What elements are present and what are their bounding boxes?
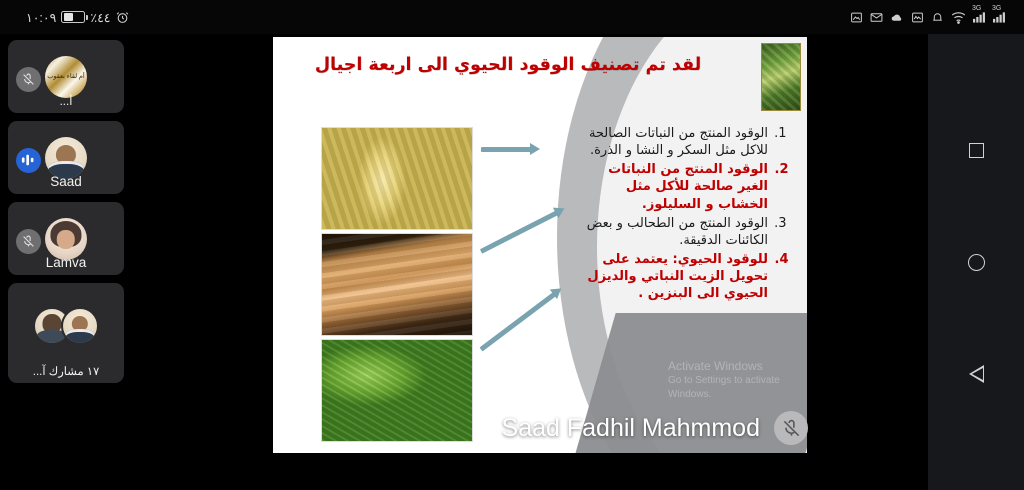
participants-count-tile[interactable]: ١٧ مشارك آ...: [8, 283, 124, 383]
avatar: [45, 218, 87, 260]
wifi-icon: [951, 11, 966, 24]
status-bar-right: 3G 3G: [850, 11, 1006, 24]
mic-off-icon[interactable]: [774, 411, 808, 445]
slide-bullet-list: الوقود المنتج من النباتات الصالحة للاكل …: [574, 125, 789, 305]
shared-screen-stage[interactable]: لقد تم تصنيف الوقود الحيوي الى اربعة اجي…: [170, 37, 830, 453]
battery-icon: [61, 11, 85, 23]
cloud-icon: [890, 11, 904, 24]
participant-tile-2[interactable]: Saad: [8, 121, 124, 194]
stats-icon: [911, 11, 924, 24]
presenter-bar: Saad Fadhil Mahmmod: [170, 411, 830, 445]
wooden-planks-photo: [321, 233, 473, 336]
screenshot-icon: [850, 11, 863, 24]
list-item: الوقود المنتج من الطحالب و بعض الكائنات …: [574, 215, 770, 249]
arrow-to-item-1: [481, 147, 531, 152]
circle-home-icon[interactable]: [954, 240, 998, 284]
list-item: الوقود المنتج من النباتات الغير صالحة لل…: [574, 161, 770, 212]
audio-waves-icon[interactable]: [16, 148, 41, 173]
status-time: ١٠:٠٩: [26, 10, 56, 25]
slide-title: لقد تم تصنيف الوقود الحيوي الى اربعة اجي…: [295, 55, 721, 77]
avatar: [45, 137, 87, 179]
avatar: أم لقاء بعقوب: [45, 56, 87, 98]
list-item: للوقود الحيوي: يعتمد على تحويل الزيت الن…: [574, 251, 770, 302]
participant-rail[interactable]: أم لقاء بعقوب أ... Saad: [8, 40, 124, 383]
arrow-to-item-4: [479, 292, 555, 351]
participants-count-label: ١٧ مشارك آ...: [8, 364, 124, 378]
arrow-to-item-2: [480, 211, 558, 254]
mail-icon: [870, 11, 883, 24]
presenter-name: Saad Fadhil Mahmmod: [502, 414, 760, 443]
list-item: الوقود المنتج من النباتات الصالحة للاكل …: [574, 125, 770, 159]
status-bar-left: ١٠:٠٩ ٪٤٤: [26, 10, 129, 25]
presentation-slide: لقد تم تصنيف الوقود الحيوي الى اربعة اجي…: [273, 37, 807, 453]
green-leaves-thumbnail: [761, 43, 801, 111]
status-bar: ١٠:٠٩ ٪٤٤: [0, 0, 1024, 34]
participant-name: Saad: [8, 174, 124, 189]
square-recents-icon[interactable]: [954, 128, 998, 172]
participant-tile-3[interactable]: Lamva: [8, 202, 124, 275]
signal-3g-icon-2: 3G: [993, 11, 1006, 23]
avatar-arabic-text: أم لقاء بعقوب: [45, 56, 87, 98]
battery-percent-label: ٪٤٤: [90, 10, 110, 25]
mic-off-icon[interactable]: [16, 67, 41, 92]
alarm-icon: [116, 11, 129, 24]
android-navigation-bar[interactable]: [928, 34, 1024, 490]
avatar: [61, 307, 99, 345]
participant-name: أ...: [8, 94, 124, 108]
mic-off-icon[interactable]: [16, 229, 41, 254]
signal-3g-icon-1: 3G: [973, 11, 986, 23]
participant-name: Lamva: [8, 255, 124, 270]
triangle-back-icon[interactable]: [954, 352, 998, 396]
bell-icon: [931, 11, 944, 24]
corn-cobs-photo: [321, 127, 473, 230]
phone-screen: ١٠:٠٩ ٪٤٤: [0, 0, 1024, 490]
participant-tile-1[interactable]: أم لقاء بعقوب أ...: [8, 40, 124, 113]
